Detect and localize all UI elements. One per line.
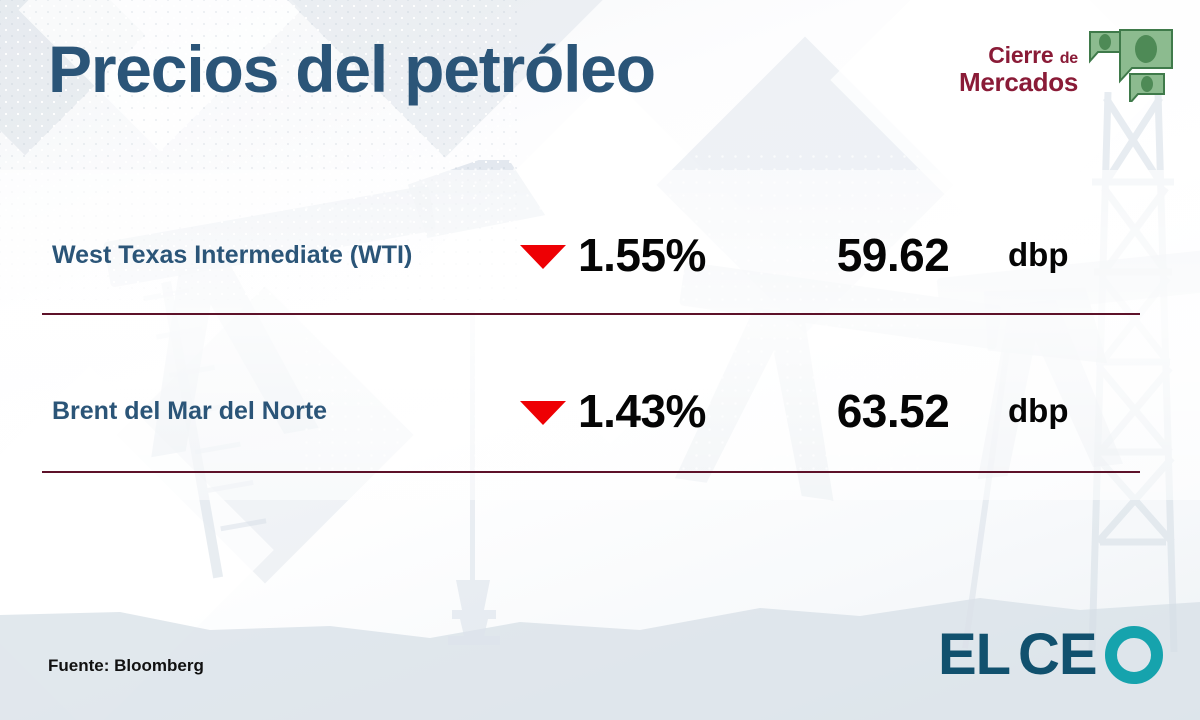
change-cell: 1.43% bbox=[520, 384, 706, 438]
brand-line-1: Cierre de bbox=[959, 42, 1078, 68]
brand-cierre-text: Cierre bbox=[988, 42, 1053, 68]
instrument-name: West Texas Intermediate (WTI) bbox=[52, 241, 412, 270]
change-percent: 1.55% bbox=[578, 228, 706, 282]
el-ceo-logo: EL CE bbox=[938, 624, 1170, 686]
price-unit: dbp bbox=[1008, 392, 1068, 430]
price-unit: dbp bbox=[1008, 236, 1068, 274]
table-row: Brent del Mar del Norte 1.43% 63.52 dbp bbox=[0, 361, 1200, 461]
change-cell: 1.55% bbox=[520, 228, 706, 282]
money-speech-bubbles-icon bbox=[1086, 26, 1178, 102]
row-divider bbox=[42, 471, 1140, 473]
table-row: West Texas Intermediate (WTI) 1.55% 59.6… bbox=[0, 205, 1200, 305]
instrument-name: Brent del Mar del Norte bbox=[52, 397, 327, 426]
logo-o-ring bbox=[1111, 632, 1157, 678]
price-value: 59.62 bbox=[818, 228, 968, 282]
price-value: 63.52 bbox=[818, 384, 968, 438]
page-title: Precios del petróleo bbox=[48, 36, 655, 102]
change-percent: 1.43% bbox=[578, 384, 706, 438]
triangle-down-icon bbox=[520, 245, 566, 269]
brand-de-text: de bbox=[1060, 50, 1078, 67]
logo-el-text: EL bbox=[938, 624, 1010, 686]
cierre-de-mercados-logo: Cierre de Mercados bbox=[959, 24, 1178, 102]
infographic-canvas: Precios del petróleo Cierre de Mercados bbox=[0, 0, 1200, 720]
oil-price-table: West Texas Intermediate (WTI) 1.55% 59.6… bbox=[0, 205, 1200, 461]
logo-ce-text: CE bbox=[1018, 624, 1097, 686]
triangle-down-icon bbox=[520, 401, 566, 425]
brand-wordmark: Cierre de Mercados bbox=[959, 24, 1078, 98]
brand-mercados-text: Mercados bbox=[959, 68, 1078, 98]
row-divider bbox=[42, 313, 1140, 315]
source-label: Fuente: Bloomberg bbox=[48, 656, 204, 676]
